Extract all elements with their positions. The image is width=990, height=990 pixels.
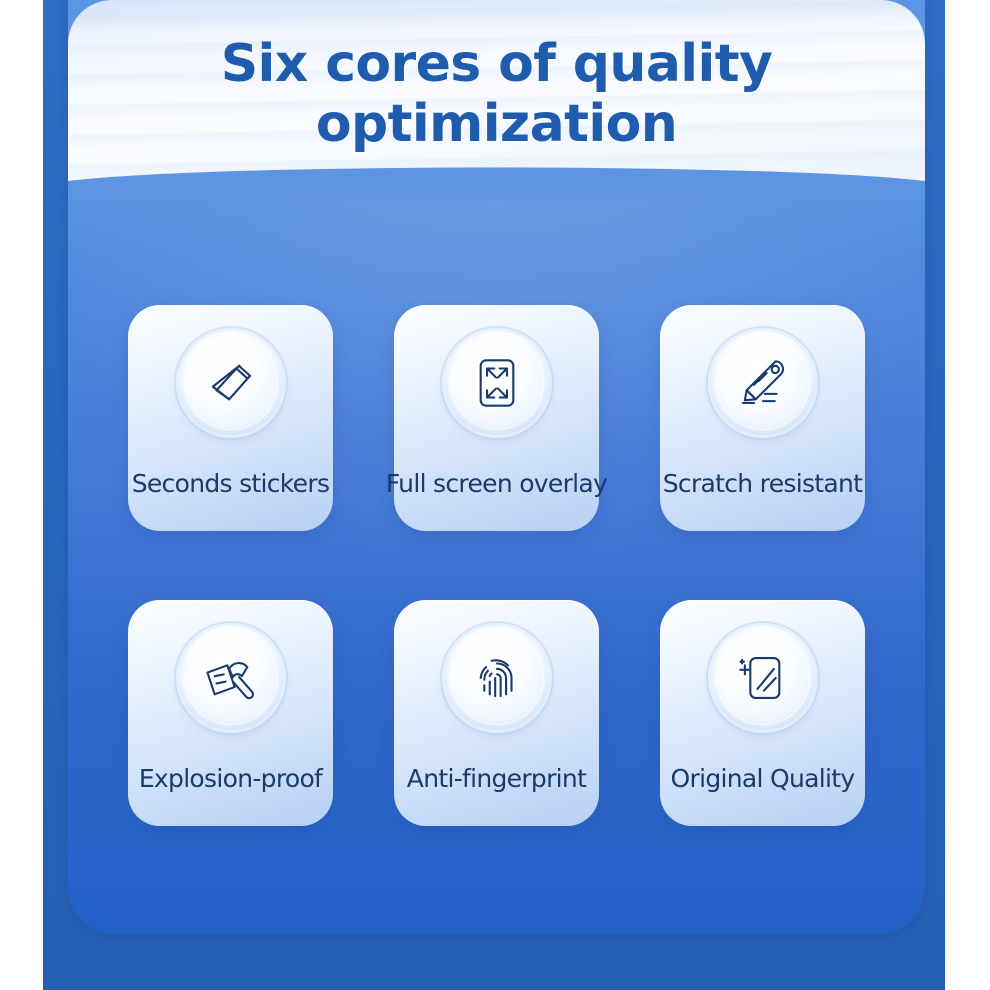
feature-icon-badge — [179, 331, 283, 435]
feature-card-label: Original Quality — [638, 764, 887, 793]
feature-grid: Seconds stickers Full screen overlay — [128, 305, 866, 826]
feature-card-label: Scratch resistant — [638, 469, 887, 498]
fullscreen-expand-icon — [468, 354, 526, 412]
sticker-film-icon — [202, 354, 260, 412]
feature-card-scratch-resistant[interactable]: Scratch resistant — [660, 305, 865, 531]
feature-icon-badge — [711, 331, 815, 435]
hammer-glass-icon — [202, 649, 260, 707]
feature-card-explosion-proof[interactable]: Explosion-proof — [128, 600, 333, 826]
feature-card-full-screen-overlay[interactable]: Full screen overlay — [394, 305, 599, 531]
feature-card-label: Explosion-proof — [106, 764, 355, 793]
feature-card-label: Anti-fingerprint — [372, 764, 621, 793]
feature-icon-badge — [711, 626, 815, 730]
feature-card-label: Seconds stickers — [106, 469, 355, 498]
feature-card-label: Full screen overlay — [372, 469, 621, 498]
utility-knife-icon — [734, 354, 792, 412]
feature-card-anti-fingerprint[interactable]: Anti-fingerprint — [394, 600, 599, 826]
feature-card-original-quality[interactable]: Original Quality — [660, 600, 865, 826]
fingerprint-icon — [468, 649, 526, 707]
feature-card-seconds-stickers[interactable]: Seconds stickers — [128, 305, 333, 531]
feature-icon-badge — [179, 626, 283, 730]
product-feature-poster: Six cores of quality optimization Second… — [0, 0, 990, 990]
feature-icon-badge — [445, 626, 549, 730]
page-title: Six cores of quality optimization — [68, 34, 925, 155]
header-wave-divider — [68, 167, 925, 200]
feature-icon-badge — [445, 331, 549, 435]
shiny-screen-icon — [734, 649, 792, 707]
